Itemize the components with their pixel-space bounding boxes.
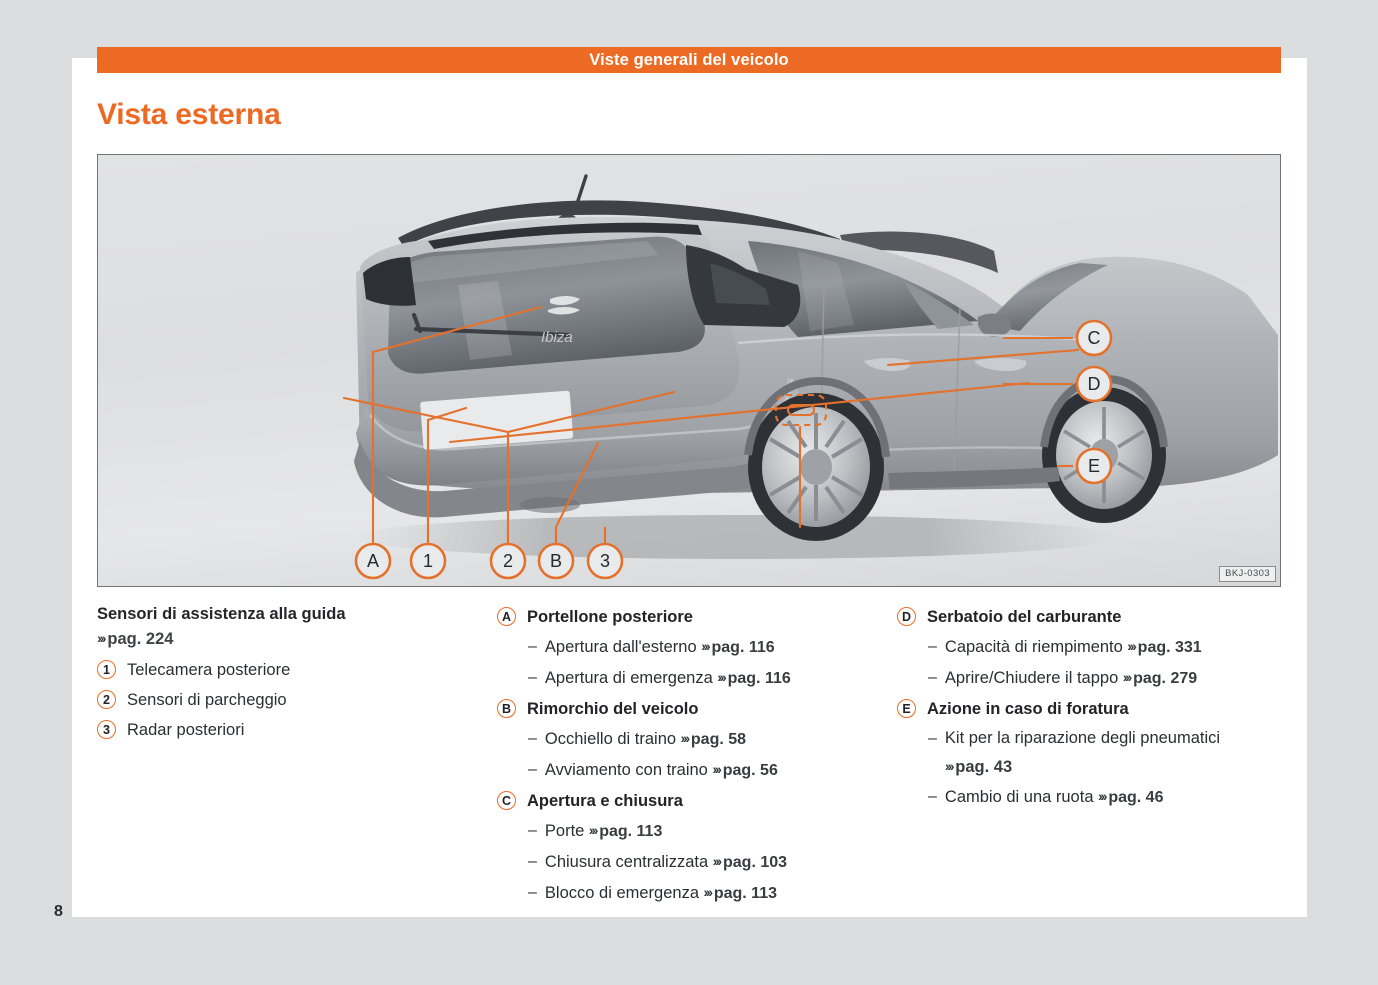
chevron-icon: ››› (703, 877, 710, 907)
page-title: Vista esterna (97, 98, 281, 132)
legend-subitem-label: Avviamento con traino (545, 755, 708, 785)
page-ref[interactable]: ›››pag. 46 (1094, 782, 1164, 813)
dash-icon: – (528, 724, 537, 754)
legend-group-title: Serbatoio del carburante (927, 602, 1121, 632)
page-number: 8 (54, 903, 63, 921)
legend-group-heading[interactable]: E Azione in caso di foratura (897, 694, 1287, 724)
page-ref-text: pag. 116 (712, 639, 775, 656)
page-ref[interactable]: ›››pag. 56 (708, 755, 778, 786)
legend-group-heading[interactable]: D Serbatoio del carburante (897, 602, 1287, 632)
legend-group-title: Rimorchio del veicolo (527, 694, 698, 724)
col1-heading-ref-text: pag. 224 (107, 630, 173, 648)
legend-subitem-label: Capacità di riempimento (945, 632, 1123, 662)
page-ref[interactable]: ›››pag. 58 (676, 724, 746, 755)
page-ref[interactable]: ›››pag. 113 (699, 878, 777, 909)
marker-c: C (497, 791, 516, 810)
chevron-icon: ››› (712, 754, 719, 784)
page-ref-text: pag. 43 (955, 758, 1012, 776)
dash-icon: – (528, 632, 537, 662)
col1-heading: Sensori di assistenza alla guida (97, 602, 497, 626)
legend-subitem-label: Blocco di emergenza (545, 878, 699, 908)
dash-icon: – (928, 724, 937, 754)
page-ref-text: pag. 279 (1133, 670, 1197, 687)
list-item-label: Telecamera posteriore (127, 655, 290, 685)
page-ref[interactable]: ›››pag. 116 (713, 663, 791, 694)
col1-heading-ref: ›››pag. 224 (97, 626, 497, 652)
legend-group-heading[interactable]: A Portellone posteriore (497, 602, 897, 632)
dash-icon: – (528, 847, 537, 877)
dash-icon: – (528, 878, 537, 908)
running-header: Viste generali del veicolo (97, 47, 1281, 73)
chevron-icon: ››› (1127, 631, 1134, 661)
legend-group-title: Azione in caso di foratura (927, 694, 1129, 724)
legend-column-1: Sensori di assistenza alla guida ›››pag.… (97, 602, 497, 745)
running-header-text: Viste generali del veicolo (589, 51, 788, 70)
legend-subitem[interactable]: – Capacità di riempimento ›››pag. 331 (897, 632, 1287, 663)
page-ref-text: pag. 46 (1108, 789, 1163, 806)
chevron-icon: ››› (589, 815, 596, 845)
legend-subitem-label: Apertura di emergenza (545, 663, 713, 693)
legend-subitem[interactable]: – Porte ›››pag. 113 (497, 816, 897, 847)
legend-subitem[interactable]: – Kit per la riparazione degli pneumatic… (897, 724, 1287, 782)
legend-subitem-label: Chiusura centralizzata (545, 847, 708, 877)
list-item[interactable]: 1 Telecamera posteriore (97, 655, 497, 685)
dash-icon: – (528, 663, 537, 693)
svg-text:Ibiza: Ibiza (541, 329, 573, 346)
chevron-icon: ››› (1098, 781, 1105, 811)
legend-subitem[interactable]: – Avviamento con traino ›››pag. 56 (497, 755, 897, 786)
legend-subitem-label: Cambio di una ruota (945, 782, 1094, 812)
list-item[interactable]: 2 Sensori di parcheggio (97, 685, 497, 715)
list-item-label: Radar posteriori (127, 715, 244, 745)
page-ref-text: pag. 58 (691, 731, 746, 748)
dash-icon: – (528, 755, 537, 785)
page-ref-text: pag. 103 (723, 854, 787, 871)
chevron-icon: ››› (945, 752, 952, 781)
vehicle-illustration: Ibiza (98, 155, 1279, 585)
page-ref-text: pag. 116 (728, 670, 791, 687)
legend-subitem-label-wrap: Kit per la riparazione degli pneumatici … (945, 724, 1285, 782)
page-ref[interactable]: ›››pag. 113 (584, 816, 662, 847)
chevron-icon: ››› (701, 631, 708, 661)
legend-subitem-label: Aprire/Chiudere il tappo (945, 663, 1118, 693)
legend-group-title: Portellone posteriore (527, 602, 693, 632)
dash-icon: – (528, 816, 537, 846)
marker-e: E (897, 699, 916, 718)
marker-2: 2 (97, 690, 116, 709)
page-ref[interactable]: ›››pag. 116 (697, 632, 775, 663)
chevron-icon: ››› (1123, 662, 1130, 692)
figure-code: BKJ-0303 (1219, 566, 1276, 582)
page-ref[interactable]: ›››pag. 331 (1123, 632, 1202, 663)
legend-subitem[interactable]: – Apertura di emergenza ›››pag. 116 (497, 663, 897, 694)
legend-subitem[interactable]: – Cambio di una ruota ›››pag. 46 (897, 782, 1287, 813)
page-ref-text: pag. 113 (599, 823, 662, 840)
legend-subitem[interactable]: – Apertura dall'esterno ›››pag. 116 (497, 632, 897, 663)
legend-column-2: A Portellone posteriore – Apertura dall'… (497, 602, 897, 909)
vehicle-figure: Ibiza (97, 154, 1281, 587)
page-ref-text: pag. 113 (714, 885, 777, 902)
list-item[interactable]: 3 Radar posteriori (97, 715, 497, 745)
legend-subitem[interactable]: – Blocco di emergenza ›››pag. 113 (497, 878, 897, 909)
marker-b: B (497, 699, 516, 718)
chevron-icon: ››› (717, 662, 724, 692)
page-ref[interactable]: ›››pag. 279 (1118, 663, 1197, 694)
legend-subitem-label: Apertura dall'esterno (545, 632, 697, 662)
list-item-label: Sensori di parcheggio (127, 685, 287, 715)
chevron-icon: ››› (681, 723, 688, 753)
page-ref-text: pag. 331 (1138, 639, 1202, 656)
legend-column-3: D Serbatoio del carburante – Capacità di… (897, 602, 1287, 813)
dash-icon: – (928, 663, 937, 693)
chevron-icon: ››› (97, 625, 104, 651)
legend-group-heading[interactable]: B Rimorchio del veicolo (497, 694, 897, 724)
legend-subitem-label: Porte (545, 816, 584, 846)
marker-3: 3 (97, 720, 116, 739)
dash-icon: – (928, 632, 937, 662)
legend-subitem-label: Occhiello di traino (545, 724, 676, 754)
page-ref-text: pag. 56 (723, 762, 778, 779)
marker-1: 1 (97, 660, 116, 679)
dash-icon: – (928, 782, 937, 812)
legend: Sensori di assistenza alla guida ›››pag.… (97, 602, 1287, 909)
page-ref[interactable]: ›››pag. 103 (708, 847, 787, 878)
legend-subitem[interactable]: – Aprire/Chiudere il tappo ›››pag. 279 (897, 663, 1287, 694)
chevron-icon: ››› (713, 846, 720, 876)
legend-group-heading[interactable]: C Apertura e chiusura (497, 786, 897, 816)
page-ref[interactable]: ›››pag. 43 (945, 753, 1285, 782)
legend-subitem[interactable]: – Occhiello di traino ›››pag. 58 (497, 724, 897, 755)
legend-subitem-label: Kit per la riparazione degli pneumatici (945, 729, 1220, 747)
legend-subitem[interactable]: – Chiusura centralizzata ›››pag. 103 (497, 847, 897, 878)
manual-page: Viste generali del veicolo Vista esterna (0, 0, 1378, 985)
marker-d: D (897, 607, 916, 626)
legend-group-title: Apertura e chiusura (527, 786, 683, 816)
marker-a: A (497, 607, 516, 626)
